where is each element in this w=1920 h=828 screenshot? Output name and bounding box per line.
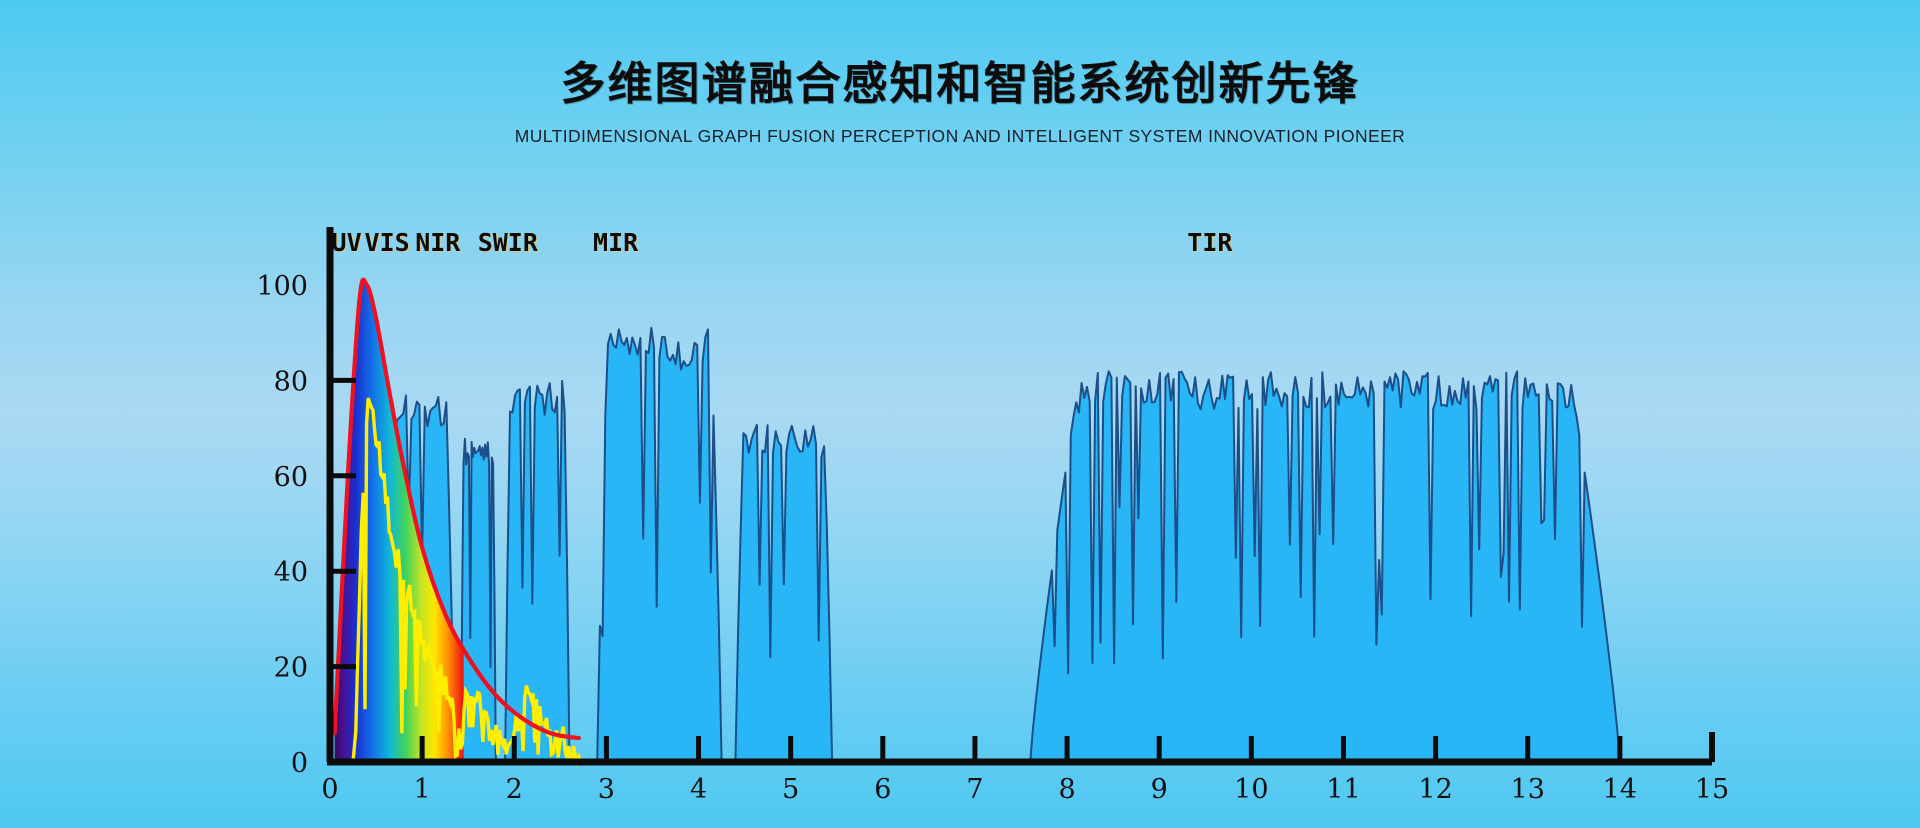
x-tick-label: 13 xyxy=(1511,774,1545,805)
x-tick-label: 0 xyxy=(321,774,338,805)
y-tick-label: 100 xyxy=(256,271,308,302)
x-tick-label: 8 xyxy=(1058,774,1075,805)
x-tick-label: 12 xyxy=(1418,774,1452,805)
x-tick-label: 14 xyxy=(1603,774,1637,805)
transmission-window-mir-a xyxy=(597,328,721,762)
y-tick-label: 20 xyxy=(274,653,308,684)
x-tick-label: 9 xyxy=(1151,774,1168,805)
x-tick-label: 7 xyxy=(966,774,983,805)
x-tick-label: 4 xyxy=(690,774,707,805)
spectrum-chart: 0204060801000123456789101112131415 xyxy=(0,0,1920,828)
x-tick-label: 11 xyxy=(1326,774,1360,805)
transmission-window-nir-a xyxy=(461,439,496,762)
x-tick-label: 2 xyxy=(506,774,523,805)
transmission-window-mir-b xyxy=(735,425,832,762)
x-tick-label: 6 xyxy=(874,774,891,805)
transmission-windows xyxy=(358,328,1620,762)
x-tick-label: 5 xyxy=(782,774,799,805)
poster-canvas: 多维图谱融合感知和智能系统创新先锋 MULTIDIMENSIONAL GRAPH… xyxy=(0,0,1920,828)
x-tick-label: 15 xyxy=(1695,774,1729,805)
y-tick-label: 40 xyxy=(274,557,308,588)
spectrum-chart-svg: 0204060801000123456789101112131415 xyxy=(0,0,1920,828)
transmission-window-tir xyxy=(1030,371,1620,762)
y-tick-label: 0 xyxy=(291,748,308,779)
y-tick-label: 60 xyxy=(274,462,308,493)
x-tick-label: 3 xyxy=(598,774,615,805)
x-tick-label: 1 xyxy=(414,774,431,805)
x-tick-label: 10 xyxy=(1234,774,1268,805)
y-tick-label: 80 xyxy=(274,366,308,397)
